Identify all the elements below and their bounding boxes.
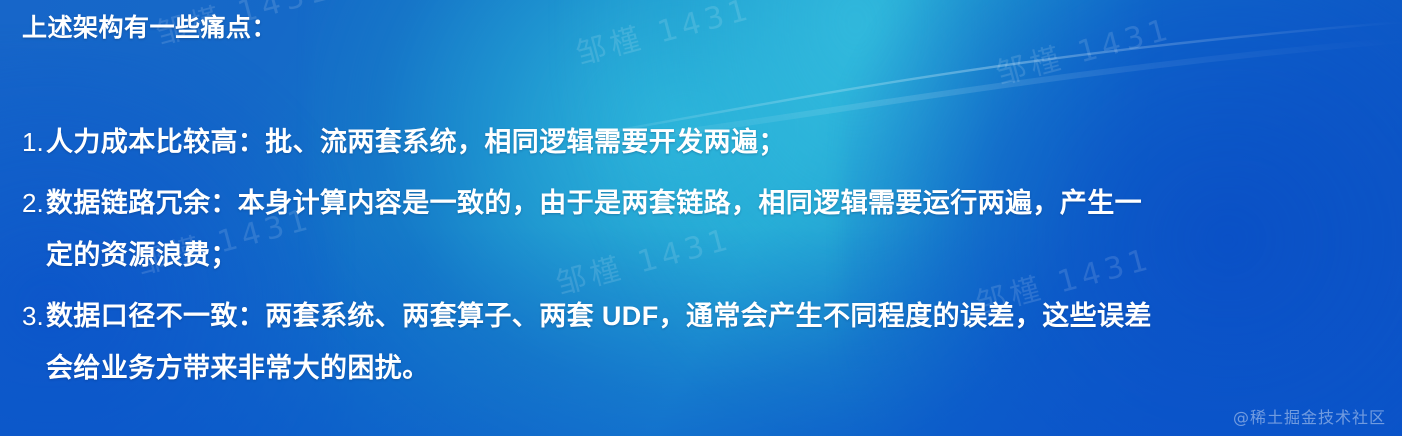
- list-item-line: 人力成本比较高：批、流两套系统，相同逻辑需要开发两遍；: [46, 116, 1324, 168]
- list-item-number: 2.: [0, 177, 46, 229]
- list-item-line: 数据口径不一致：两套系统、两套算子、两套 UDF，通常会产生不同程度的误差，这些…: [46, 290, 1324, 342]
- list-item-text: 数据口径不一致：两套系统、两套算子、两套 UDF，通常会产生不同程度的误差，这些…: [46, 290, 1402, 394]
- list-item: 1. 人力成本比较高：批、流两套系统，相同逻辑需要开发两遍；: [0, 116, 1402, 168]
- list-item-number: 3.: [0, 290, 46, 342]
- list-item-line: 会给业务方带来非常大的困扰。: [46, 342, 1324, 394]
- list-item-text: 数据链路冗余：本身计算内容是一致的，由于是两套链路，相同逻辑需要运行两遍，产生一…: [46, 177, 1402, 281]
- list-item: 2. 数据链路冗余：本身计算内容是一致的，由于是两套链路，相同逻辑需要运行两遍，…: [0, 177, 1402, 281]
- list-item-text: 人力成本比较高：批、流两套系统，相同逻辑需要开发两遍；: [46, 116, 1402, 168]
- corner-watermark: @稀土掘金技术社区: [1233, 404, 1386, 428]
- page-title: 上述架构有一些痛点：: [22, 13, 277, 44]
- list-item-line: 定的资源浪费；: [46, 229, 1324, 281]
- slide-content: 上述架构有一些痛点： 1. 人力成本比较高：批、流两套系统，相同逻辑需要开发两遍…: [0, 0, 1402, 436]
- list-item-number: 1.: [0, 116, 46, 168]
- slide-canvas: 邹槿 1431 邹槿 1431 邹槿 1431 邹槿 1431 邹槿 1431 …: [0, 0, 1402, 436]
- pain-points-list: 1. 人力成本比较高：批、流两套系统，相同逻辑需要开发两遍； 2. 数据链路冗余…: [0, 116, 1402, 403]
- list-item: 3. 数据口径不一致：两套系统、两套算子、两套 UDF，通常会产生不同程度的误差…: [0, 290, 1402, 394]
- list-item-line: 数据链路冗余：本身计算内容是一致的，由于是两套链路，相同逻辑需要运行两遍，产生一: [46, 177, 1324, 229]
